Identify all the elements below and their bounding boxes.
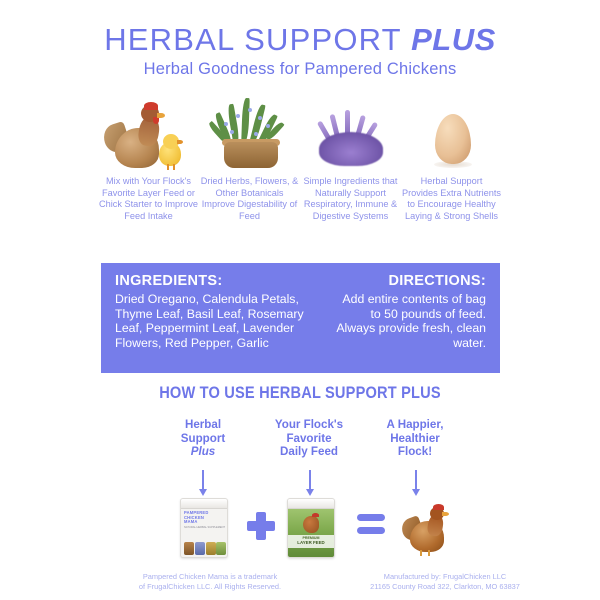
- layer-feed-bag: PREMIUM LAYER FEED: [287, 498, 335, 558]
- bag-zip-top: [288, 499, 334, 509]
- page-title-accent: PLUS: [411, 22, 496, 57]
- step-label-line: Support: [150, 432, 256, 446]
- directions-block: DIRECTIONS: Add entire contents of bag t…: [329, 263, 500, 373]
- step-label-2: Your Flock's Favorite Daily Feed: [256, 418, 362, 473]
- bag-subtitle: NATURAL HERBAL SUPPLEMENT: [181, 525, 227, 529]
- ingredients-text: Dried Oregano, Calendula Petals, Thyme L…: [115, 292, 329, 350]
- herb-planter-icon: [200, 92, 300, 170]
- infographic-page: HERBAL SUPPORT PLUS Herbal Goodness for …: [0, 0, 600, 600]
- step-label-3: A Happier, Healthier Flock!: [362, 418, 468, 473]
- step-label-line: Daily Feed: [256, 445, 362, 459]
- step-label-line: Plus: [150, 445, 256, 459]
- info-panel: INGREDIENTS: Dried Oregano, Calendula Pe…: [101, 263, 500, 373]
- step-label-line: Herbal: [150, 418, 256, 432]
- feature-column: Dried Herbs, Flowers, & Other Botanicals…: [199, 92, 300, 252]
- bag-artwork: [183, 533, 225, 555]
- feed-bag-line2: LAYER FEED: [288, 540, 334, 546]
- feature-columns: Mix with Your Flock's Favorite Layer Fee…: [98, 92, 502, 252]
- plus-symbol-icon: [247, 512, 275, 540]
- bag-zip-top: [181, 499, 227, 509]
- page-title-main: HERBAL SUPPORT: [104, 22, 411, 57]
- arrow-down-icon: [309, 470, 311, 490]
- feature-caption: Mix with Your Flock's Favorite Layer Fee…: [99, 176, 199, 222]
- feature-column: Mix with Your Flock's Favorite Layer Fee…: [98, 92, 199, 252]
- brown-egg-icon: [402, 92, 502, 170]
- hen-icon: [303, 516, 319, 533]
- footer: Pampered Chicken Mama is a trademark of …: [0, 572, 600, 596]
- footer-manufacturer: Manufactured by: FrugalChicken LLC 21165…: [330, 572, 560, 591]
- feature-column: Herbal Support Provides Extra Nutrients …: [401, 92, 502, 252]
- footer-line: Manufactured by: FrugalChicken LLC: [330, 572, 560, 582]
- ingredients-heading: INGREDIENTS:: [115, 273, 329, 289]
- bag-photo: PREMIUM LAYER FEED: [288, 509, 334, 558]
- arrow-down-icon: [415, 470, 417, 490]
- howto-heading: HOW TO USE HERBAL SUPPORT PLUS: [42, 383, 558, 403]
- step-label-line: Flock!: [362, 445, 468, 459]
- howto-arrows: [150, 470, 470, 500]
- lavender-bunch-icon: [301, 92, 401, 170]
- directions-text: Add entire contents of bag to 50 pounds …: [329, 292, 486, 350]
- howto-product-row: PAMPERED CHICKEN MAMA NATURAL HERBAL SUP…: [150, 498, 470, 560]
- feature-caption: Herbal Support Provides Extra Nutrients …: [402, 176, 502, 222]
- page-subtitle: Herbal Goodness for Pampered Chickens: [0, 60, 600, 79]
- step-label-line: A Happier,: [362, 418, 468, 432]
- step-label-line: Healthier: [362, 432, 468, 446]
- feature-caption: Simple Ingredients that Naturally Suppor…: [301, 176, 401, 222]
- ingredients-block: INGREDIENTS: Dried Oregano, Calendula Pe…: [101, 263, 329, 373]
- footer-line: of FrugalChicken LLC. All Rights Reserve…: [100, 582, 320, 592]
- step-label-1: Herbal Support Plus: [150, 418, 256, 473]
- equals-symbol-icon: [357, 514, 385, 536]
- footer-line: Pampered Chicken Mama is a trademark: [100, 572, 320, 582]
- howto-step-labels: Herbal Support Plus Your Flock's Favorit…: [150, 418, 470, 473]
- herbal-support-bag: PAMPERED CHICKEN MAMA NATURAL HERBAL SUP…: [180, 498, 228, 558]
- feature-column: Simple Ingredients that Naturally Suppor…: [300, 92, 401, 252]
- step-label-line: Favorite: [256, 432, 362, 446]
- feature-caption: Dried Herbs, Flowers, & Other Botanicals…: [200, 176, 300, 222]
- directions-heading: DIRECTIONS:: [329, 273, 486, 289]
- footer-trademark: Pampered Chicken Mama is a trademark of …: [100, 572, 320, 591]
- footer-line: 21165 County Road 322, Clarkton, MO 6383…: [330, 582, 560, 592]
- brown-hen-icon: [402, 504, 454, 556]
- hen-with-chick-icon: [99, 92, 199, 170]
- step-label-line: Your Flock's: [256, 418, 362, 432]
- page-title: HERBAL SUPPORT PLUS: [0, 22, 600, 58]
- arrow-down-icon: [202, 470, 204, 490]
